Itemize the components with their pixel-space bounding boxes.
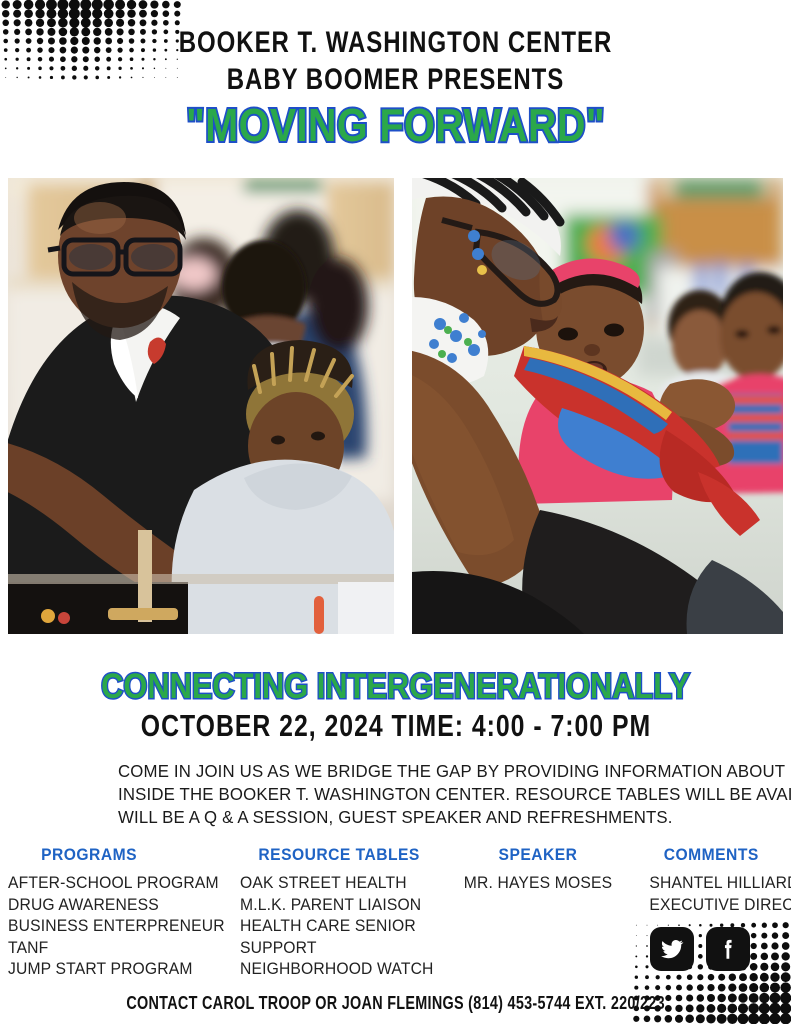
- description-line: COME IN JOIN US AS WE BRIDGE THE GAP BY …: [118, 760, 656, 783]
- list-item: OAK STREET HEALTH: [240, 873, 430, 895]
- main-title-container: "MOVING FORWARD": [0, 100, 791, 150]
- social-links: [650, 927, 750, 971]
- flyer-main-title: "MOVING FORWARD": [186, 100, 605, 150]
- column-heading-speaker: SPEAKER: [455, 845, 621, 865]
- column-heading-resource-tables: RESOURCE TABLES: [240, 845, 424, 865]
- list-item: EXECUTIVE DIRECTOR: [638, 895, 790, 917]
- photo-left-artwork: [8, 178, 394, 634]
- column-speaker: SPEAKER MR. HAYES MOSES: [448, 845, 628, 895]
- column-programs: PROGRAMS AFTER-SCHOOL PROGRAM DRUG AWARE…: [8, 845, 218, 981]
- column-list-programs: AFTER-SCHOOL PROGRAM DRUG AWARENESS BUSI…: [8, 873, 218, 981]
- event-datetime-container: OCTOBER 22, 2024 TIME: 4:00 - 7:00 PM: [0, 708, 791, 744]
- column-list-speaker: MR. HAYES MOSES: [448, 873, 628, 895]
- list-item: DRUG AWARENESS: [8, 895, 208, 917]
- event-datetime: OCTOBER 22, 2024 TIME: 4:00 - 7:00 PM: [140, 708, 650, 744]
- section-heading-container: CONNECTING INTERGENERATIONALLY: [0, 668, 791, 706]
- twitter-glyph: [659, 936, 685, 962]
- list-item: BUSINESS ENTERPRENEUR: [8, 916, 208, 938]
- list-item: SHANTEL HILLIARD: [638, 873, 790, 895]
- event-description: COME IN JOIN US AS WE BRIDGE THE GAP BY …: [118, 760, 678, 829]
- list-item: MR. HAYES MOSES: [453, 873, 624, 895]
- column-heading-comments: COMMENTS: [638, 845, 785, 865]
- list-item: JUMP START PROGRAM: [8, 959, 208, 981]
- list-item: AFTER-SCHOOL PROGRAM: [8, 873, 208, 895]
- list-item: TANF: [8, 938, 208, 960]
- description-line: INSIDE THE BOOKER T. WASHINGTON CENTER. …: [118, 783, 656, 806]
- photo-right-artwork: [412, 178, 783, 634]
- facebook-icon[interactable]: [706, 927, 750, 971]
- list-item: HEALTH CARE SENIOR: [240, 916, 430, 938]
- column-comments: COMMENTS SHANTEL HILLIARD EXECUTIVE DIRE…: [638, 845, 791, 916]
- column-list-resource-tables: OAK STREET HEALTH M.L.K. PARENT LIAISON …: [240, 873, 440, 981]
- twitter-icon[interactable]: [650, 927, 694, 971]
- description-line: WILL BE A Q & A SESSION, GUEST SPEAKER A…: [118, 806, 656, 829]
- list-item: M.L.K. PARENT LIAISON: [240, 895, 430, 917]
- photo-grandmother-reading: [412, 178, 783, 634]
- list-item: SUPPORT: [240, 938, 430, 960]
- column-resource-tables: RESOURCE TABLES OAK STREET HEALTH M.L.K.…: [240, 845, 440, 981]
- organization-header: BOOKER T. WASHINGTON CENTER BABY BOOMER …: [0, 24, 791, 98]
- column-heading-programs: PROGRAMS: [8, 845, 201, 865]
- contact-line: CONTACT CAROL TROOP OR JOAN FLEMINGS (81…: [126, 992, 665, 1014]
- column-list-comments: SHANTEL HILLIARD EXECUTIVE DIRECTOR: [638, 873, 791, 916]
- contact-container: CONTACT CAROL TROOP OR JOAN FLEMINGS (81…: [0, 992, 791, 1014]
- organization-name-line-2: BABY BOOMER PRESENTS: [79, 61, 712, 98]
- facebook-glyph: [715, 936, 741, 962]
- photo-mentor-and-student: [8, 178, 394, 634]
- organization-name-line-1: BOOKER T. WASHINGTON CENTER: [79, 24, 712, 61]
- section-heading: CONNECTING INTERGENERATIONALLY: [101, 668, 690, 706]
- list-item: NEIGHBORHOOD WATCH: [240, 959, 430, 981]
